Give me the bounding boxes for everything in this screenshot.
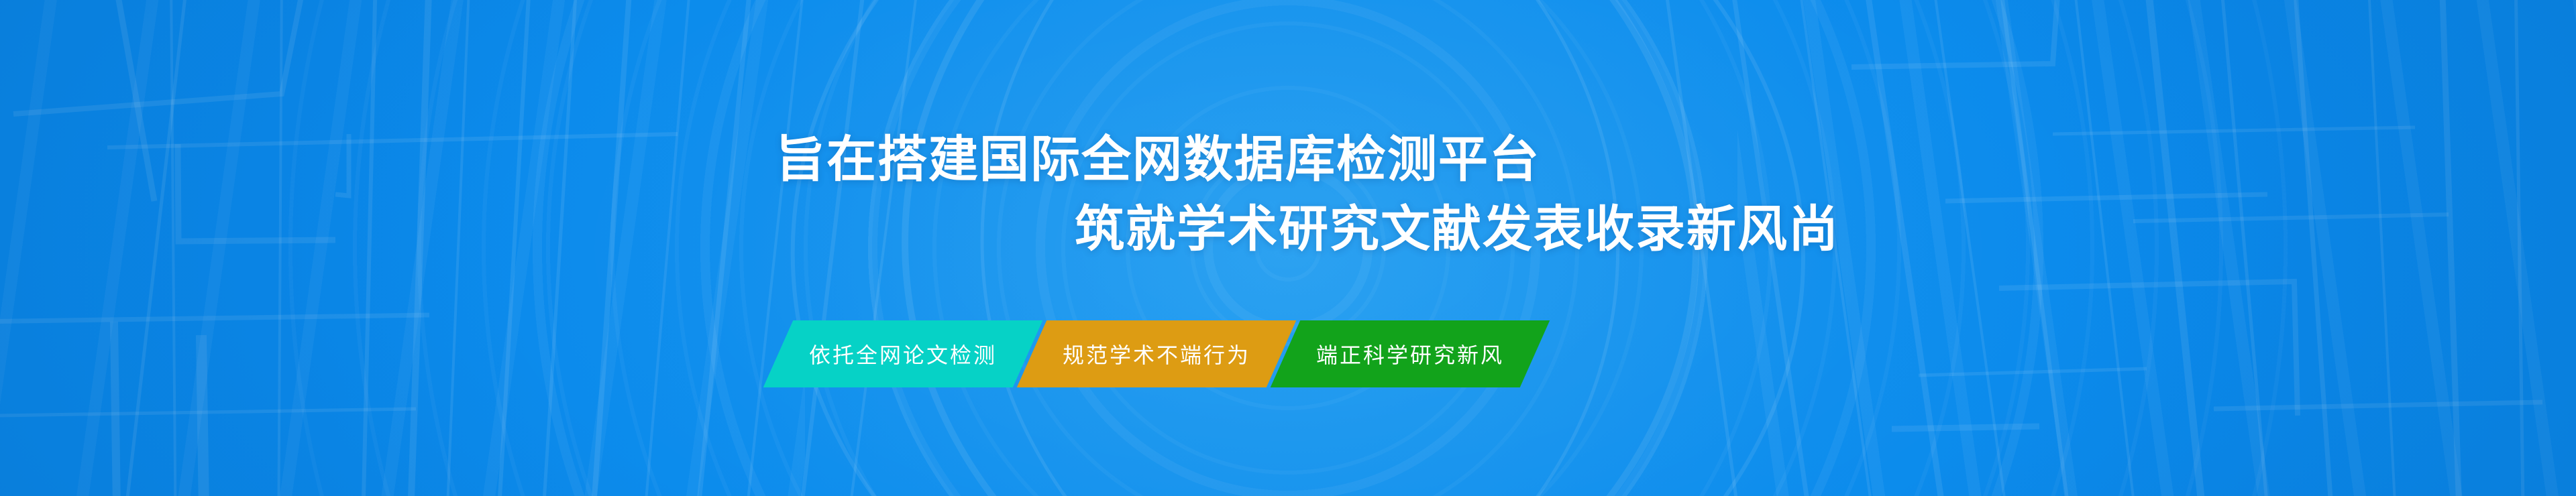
promo-banner: 旨在搭建国际全网数据库检测平台 筑就学术研究文献发表收录新风尚 依托全网论文检测… <box>0 0 2576 496</box>
feature-badge-detection-label: 依托全网论文检测 <box>809 338 997 369</box>
feature-badge-misconduct-label: 规范学术不端行为 <box>1063 338 1250 369</box>
feature-badge-misconduct[interactable]: 规范学术不端行为 <box>1017 320 1297 387</box>
feature-badge-detection[interactable]: 依托全网论文检测 <box>763 320 1043 387</box>
background-base <box>0 0 2576 496</box>
feature-badge-integrity-label: 端正科学研究新风 <box>1316 338 1504 369</box>
feature-badge-group: 依托全网论文检测 规范学术不端行为 端正科学研究新风 <box>778 320 1535 387</box>
feature-badge-integrity[interactable]: 端正科学研究新风 <box>1271 320 1550 387</box>
